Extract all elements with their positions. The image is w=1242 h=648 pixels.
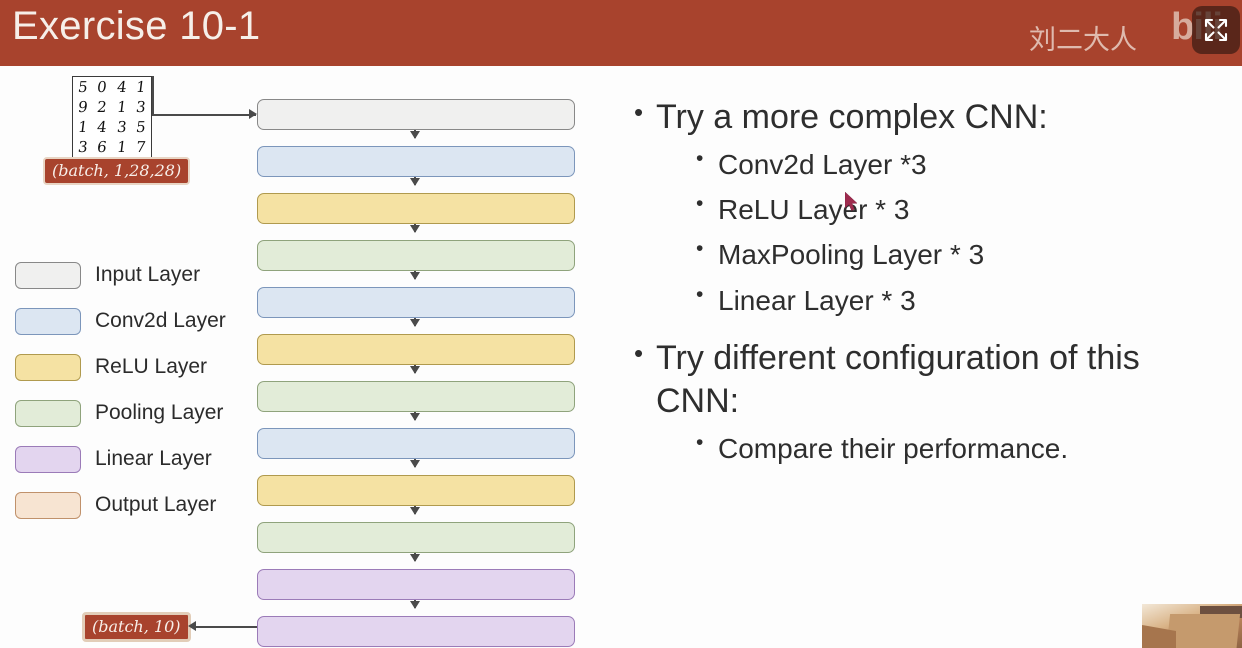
bullet-try-different-config: Try different configuration of this CNN: <box>632 337 1232 424</box>
flow-arrow <box>414 365 416 373</box>
flow-box-conv2d <box>257 428 575 459</box>
flow-arrow <box>414 224 416 232</box>
flow-box-pool <box>257 381 575 412</box>
legend-swatch-input <box>15 262 81 289</box>
bullet-list: Try a more complex CNN: Conv2d Layer *3 … <box>632 96 1232 471</box>
flow-arrow <box>414 177 416 185</box>
flow-arrow <box>414 271 416 279</box>
layer-legend: Input Layer Conv2d Layer ReLU Layer Pool… <box>0 252 226 528</box>
legend-swatch-linear <box>15 446 81 473</box>
channel-watermark: 刘二大人 <box>1029 18 1137 57</box>
output-shape-label: (batch, 10) <box>82 612 191 642</box>
legend-swatch-pooling <box>15 400 81 427</box>
flow-arrow <box>414 506 416 514</box>
slide-canvas: Exercise 10-1 刘二大人 bili 5 0 4 1 <box>0 0 1242 648</box>
input-connector-horizontal <box>152 114 256 116</box>
input-shape-label: (batch, 1,28,28) <box>43 157 190 185</box>
flow-box-linear <box>257 616 575 647</box>
flow-arrow <box>414 553 416 561</box>
flow-arrow <box>414 600 416 608</box>
flow-box-pool <box>257 240 575 271</box>
legend-label-linear: Linear Layer <box>95 447 212 471</box>
flow-arrow <box>414 130 416 138</box>
mnist-digit: 1 <box>77 120 88 135</box>
legend-label-output: Output Layer <box>95 493 216 517</box>
mnist-digit: 9 <box>77 100 88 115</box>
flow-box-input <box>257 99 575 130</box>
legend-label-pooling: Pooling Layer <box>95 401 223 425</box>
input-shape-text: (batch, 1,28,28) <box>52 161 181 180</box>
flow-box-relu <box>257 475 575 506</box>
mnist-digit: 4 <box>116 80 127 95</box>
mnist-digit: 3 <box>77 140 88 155</box>
fullscreen-expand-icon[interactable] <box>1192 6 1240 54</box>
legend-item-relu: ReLU Layer <box>0 344 226 390</box>
pip-video-overlay[interactable] <box>1142 604 1242 648</box>
legend-label-conv2d: Conv2d Layer <box>95 309 226 333</box>
input-arrow-head-icon <box>249 109 257 119</box>
mnist-digit: 4 <box>97 120 108 135</box>
legend-swatch-output <box>15 492 81 519</box>
legend-item-conv2d: Conv2d Layer <box>0 298 226 344</box>
input-connector-vertical <box>152 76 154 116</box>
pip-region-mid <box>1166 614 1240 648</box>
output-shape-text: (batch, 10) <box>92 617 181 636</box>
output-connector-horizontal <box>196 626 260 628</box>
flow-box-linear <box>257 569 575 600</box>
flow-arrow <box>414 318 416 326</box>
flow-arrow <box>414 459 416 467</box>
bullet-try-complex-cnn: Try a more complex CNN: <box>632 96 1232 140</box>
mnist-digit-grid: 5 0 4 1 9 2 1 3 1 4 3 5 3 6 1 7 <box>72 76 152 158</box>
mnist-digit: 3 <box>136 100 147 115</box>
flow-box-pool <box>257 522 575 553</box>
bullet-linear-layer: Linear Layer * 3 <box>632 278 1232 323</box>
mnist-digit: 0 <box>97 80 108 95</box>
bullet-compare-performance: Compare their performance. <box>632 426 1232 471</box>
mnist-digit: 7 <box>136 140 147 155</box>
flow-box-relu <box>257 334 575 365</box>
flow-box-conv2d <box>257 287 575 318</box>
legend-item-linear: Linear Layer <box>0 436 226 482</box>
mnist-digit: 2 <box>97 100 108 115</box>
mnist-digit: 1 <box>116 100 127 115</box>
page-title: Exercise 10-1 <box>12 4 260 49</box>
output-arrow-head-icon <box>188 621 196 631</box>
bullet-conv2d-layer: Conv2d Layer *3 <box>632 142 1232 187</box>
mnist-digit: 1 <box>136 80 147 95</box>
mnist-digit: 5 <box>77 80 88 95</box>
legend-swatch-conv2d <box>15 308 81 335</box>
legend-item-output: Output Layer <box>0 482 226 528</box>
bullet-maxpooling-layer: MaxPooling Layer * 3 <box>632 232 1232 277</box>
flow-box-conv2d <box>257 146 575 177</box>
mouse-pointer <box>845 192 859 212</box>
bullet-relu-layer: ReLU Layer * 3 <box>632 187 1232 232</box>
legend-swatch-relu <box>15 354 81 381</box>
mnist-digit: 3 <box>116 120 127 135</box>
mnist-digit: 6 <box>97 140 108 155</box>
flow-box-relu <box>257 193 575 224</box>
flow-arrow <box>414 412 416 420</box>
mnist-digit: 5 <box>136 120 147 135</box>
mnist-digit: 1 <box>116 140 127 155</box>
legend-label-input: Input Layer <box>95 263 200 287</box>
legend-label-relu: ReLU Layer <box>95 355 207 379</box>
legend-item-pooling: Pooling Layer <box>0 390 226 436</box>
slide-header-bar: Exercise 10-1 刘二大人 bili <box>0 0 1242 66</box>
legend-item-input: Input Layer <box>0 252 226 298</box>
